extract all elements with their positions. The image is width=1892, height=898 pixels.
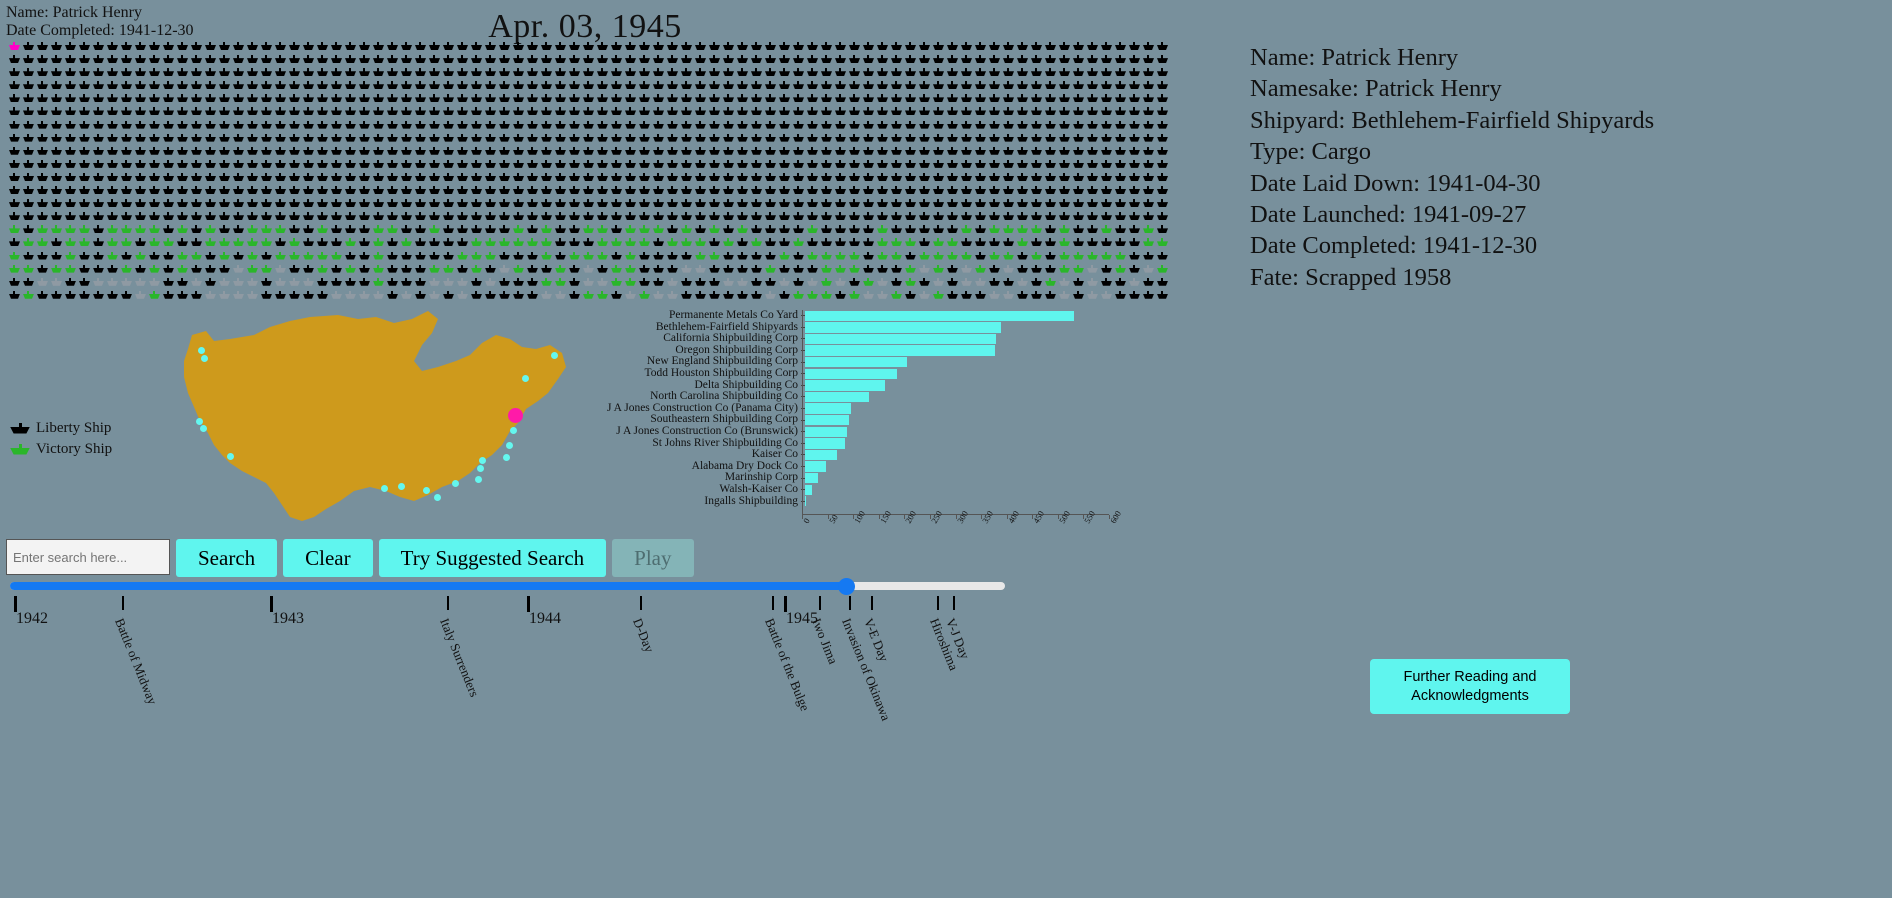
ship-marker[interactable] xyxy=(232,291,246,303)
ship-marker[interactable] xyxy=(778,199,792,211)
ship-marker[interactable] xyxy=(624,160,638,172)
ship-grid[interactable] xyxy=(8,42,1168,304)
ship-marker[interactable] xyxy=(778,68,792,80)
ship-marker[interactable] xyxy=(526,147,540,159)
ship-marker[interactable] xyxy=(372,238,386,250)
ship-marker[interactable] xyxy=(1072,134,1086,146)
ship-marker[interactable] xyxy=(316,265,330,277)
ship-marker[interactable] xyxy=(596,94,610,106)
ship-marker[interactable] xyxy=(1086,55,1100,67)
ship-marker[interactable] xyxy=(456,121,470,133)
ship-marker[interactable] xyxy=(554,238,568,250)
ship-marker[interactable] xyxy=(1002,225,1016,237)
ship-marker[interactable] xyxy=(652,199,666,211)
ship-marker[interactable] xyxy=(1016,278,1030,290)
ship-marker[interactable] xyxy=(414,121,428,133)
ship-marker[interactable] xyxy=(50,147,64,159)
bar[interactable] xyxy=(805,392,869,402)
ship-marker[interactable] xyxy=(22,42,36,54)
ship-marker[interactable] xyxy=(260,160,274,172)
ship-marker[interactable] xyxy=(316,173,330,185)
ship-marker[interactable] xyxy=(428,238,442,250)
ship-marker[interactable] xyxy=(316,252,330,264)
ship-marker[interactable] xyxy=(64,147,78,159)
ship-marker[interactable] xyxy=(526,199,540,211)
ship-marker[interactable] xyxy=(904,265,918,277)
ship-marker[interactable] xyxy=(1128,68,1142,80)
ship-marker[interactable] xyxy=(1156,134,1168,146)
ship-marker[interactable] xyxy=(218,173,232,185)
ship-marker[interactable] xyxy=(288,238,302,250)
ship-marker[interactable] xyxy=(876,212,890,224)
ship-marker[interactable] xyxy=(218,265,232,277)
ship-marker[interactable] xyxy=(904,278,918,290)
ship-marker[interactable] xyxy=(946,147,960,159)
ship-marker[interactable] xyxy=(386,173,400,185)
search-input[interactable] xyxy=(6,539,170,575)
ship-marker[interactable] xyxy=(1086,238,1100,250)
ship-marker[interactable] xyxy=(666,238,680,250)
ship-marker[interactable] xyxy=(330,147,344,159)
ship-marker[interactable] xyxy=(680,199,694,211)
ship-marker[interactable] xyxy=(428,107,442,119)
ship-marker[interactable] xyxy=(932,225,946,237)
ship-marker[interactable] xyxy=(848,252,862,264)
ship-marker[interactable] xyxy=(22,94,36,106)
ship-marker[interactable] xyxy=(190,173,204,185)
ship-marker[interactable] xyxy=(820,147,834,159)
ship-marker[interactable] xyxy=(1100,199,1114,211)
ship-marker[interactable] xyxy=(470,291,484,303)
ship-marker[interactable] xyxy=(778,212,792,224)
ship-marker[interactable] xyxy=(708,212,722,224)
ship-marker[interactable] xyxy=(1100,238,1114,250)
ship-marker[interactable] xyxy=(568,68,582,80)
ship-marker[interactable] xyxy=(694,238,708,250)
ship-marker[interactable] xyxy=(750,265,764,277)
ship-marker[interactable] xyxy=(764,252,778,264)
ship-marker[interactable] xyxy=(316,42,330,54)
ship-marker[interactable] xyxy=(442,199,456,211)
ship-marker[interactable] xyxy=(876,81,890,93)
ship-marker[interactable] xyxy=(470,199,484,211)
ship-marker[interactable] xyxy=(526,265,540,277)
ship-marker[interactable] xyxy=(176,199,190,211)
ship-marker[interactable] xyxy=(862,278,876,290)
ship-marker[interactable] xyxy=(372,212,386,224)
ship-marker[interactable] xyxy=(190,238,204,250)
ship-marker[interactable] xyxy=(946,186,960,198)
ship-marker[interactable] xyxy=(50,42,64,54)
ship-marker[interactable] xyxy=(176,68,190,80)
ship-marker[interactable] xyxy=(204,55,218,67)
ship-marker[interactable] xyxy=(456,55,470,67)
ship-marker[interactable] xyxy=(736,94,750,106)
ship-marker[interactable] xyxy=(1142,107,1156,119)
ship-marker[interactable] xyxy=(736,173,750,185)
ship-marker[interactable] xyxy=(428,134,442,146)
ship-marker[interactable] xyxy=(470,173,484,185)
ship-marker[interactable] xyxy=(918,134,932,146)
ship-marker[interactable] xyxy=(1100,265,1114,277)
ship-marker[interactable] xyxy=(344,160,358,172)
ship-marker[interactable] xyxy=(932,81,946,93)
ship-marker[interactable] xyxy=(834,265,848,277)
ship-marker[interactable] xyxy=(176,121,190,133)
ship-marker[interactable] xyxy=(792,134,806,146)
ship-marker[interactable] xyxy=(162,186,176,198)
ship-marker[interactable] xyxy=(344,265,358,277)
ship-marker[interactable] xyxy=(708,252,722,264)
ship-marker[interactable] xyxy=(414,147,428,159)
slider-thumb[interactable] xyxy=(838,578,855,595)
ship-marker[interactable] xyxy=(246,199,260,211)
ship-marker[interactable] xyxy=(50,212,64,224)
ship-marker[interactable] xyxy=(442,107,456,119)
ship-marker[interactable] xyxy=(344,212,358,224)
ship-marker[interactable] xyxy=(106,252,120,264)
ship-marker[interactable] xyxy=(428,94,442,106)
ship-marker[interactable] xyxy=(1100,212,1114,224)
ship-marker[interactable] xyxy=(1142,81,1156,93)
ship-marker[interactable] xyxy=(876,68,890,80)
ship-marker[interactable] xyxy=(932,238,946,250)
ship-marker[interactable] xyxy=(442,278,456,290)
bar-chart-row[interactable]: Alabama Dry Dock Co xyxy=(600,461,1120,473)
ship-marker[interactable] xyxy=(274,278,288,290)
ship-marker[interactable] xyxy=(932,55,946,67)
ship-marker[interactable] xyxy=(568,147,582,159)
ship-marker[interactable] xyxy=(1030,238,1044,250)
ship-marker[interactable] xyxy=(232,94,246,106)
ship-marker[interactable] xyxy=(750,147,764,159)
ship-marker[interactable] xyxy=(792,81,806,93)
ship-marker[interactable] xyxy=(1142,55,1156,67)
ship-marker[interactable] xyxy=(8,121,22,133)
ship-marker[interactable] xyxy=(1002,68,1016,80)
ship-marker[interactable] xyxy=(638,160,652,172)
ship-marker[interactable] xyxy=(680,121,694,133)
ship-marker[interactable] xyxy=(974,173,988,185)
ship-marker[interactable] xyxy=(904,94,918,106)
ship-marker[interactable] xyxy=(302,278,316,290)
bar[interactable] xyxy=(805,450,837,460)
ship-marker[interactable] xyxy=(1044,199,1058,211)
ship-marker[interactable] xyxy=(22,147,36,159)
ship-marker[interactable] xyxy=(932,173,946,185)
ship-marker[interactable] xyxy=(50,265,64,277)
ship-marker[interactable] xyxy=(862,199,876,211)
ship-marker[interactable] xyxy=(498,212,512,224)
ship-marker[interactable] xyxy=(1002,238,1016,250)
ship-marker[interactable] xyxy=(386,147,400,159)
ship-marker[interactable] xyxy=(694,265,708,277)
ship-marker[interactable] xyxy=(820,252,834,264)
ship-marker[interactable] xyxy=(232,265,246,277)
ship-marker[interactable] xyxy=(22,265,36,277)
ship-marker[interactable] xyxy=(638,278,652,290)
ship-marker[interactable] xyxy=(1058,186,1072,198)
ship-marker[interactable] xyxy=(246,173,260,185)
ship-marker[interactable] xyxy=(316,81,330,93)
ship-marker[interactable] xyxy=(470,225,484,237)
ship-marker[interactable] xyxy=(1114,252,1128,264)
ship-marker[interactable] xyxy=(596,199,610,211)
ship-marker[interactable] xyxy=(386,42,400,54)
ship-marker[interactable] xyxy=(610,107,624,119)
bar-chart-row[interactable]: Walsh-Kaiser Co xyxy=(600,484,1120,496)
ship-marker[interactable] xyxy=(722,55,736,67)
ship-marker[interactable] xyxy=(442,147,456,159)
ship-marker[interactable] xyxy=(1058,252,1072,264)
ship-marker[interactable] xyxy=(1058,212,1072,224)
ship-marker[interactable] xyxy=(78,186,92,198)
ship-marker[interactable] xyxy=(834,81,848,93)
ship-marker[interactable] xyxy=(932,265,946,277)
ship-marker[interactable] xyxy=(778,238,792,250)
ship-marker[interactable] xyxy=(974,238,988,250)
ship-marker[interactable] xyxy=(1044,42,1058,54)
ship-marker[interactable] xyxy=(652,42,666,54)
ship-marker[interactable] xyxy=(1072,68,1086,80)
ship-marker[interactable] xyxy=(974,252,988,264)
ship-marker[interactable] xyxy=(302,94,316,106)
ship-marker[interactable] xyxy=(120,134,134,146)
ship-marker[interactable] xyxy=(960,147,974,159)
ship-marker[interactable] xyxy=(274,147,288,159)
ship-marker[interactable] xyxy=(750,291,764,303)
ship-marker[interactable] xyxy=(806,160,820,172)
ship-marker[interactable] xyxy=(22,134,36,146)
ship-marker[interactable] xyxy=(862,225,876,237)
ship-marker[interactable] xyxy=(946,107,960,119)
ship-marker[interactable] xyxy=(316,291,330,303)
ship-marker[interactable] xyxy=(330,278,344,290)
ship-marker[interactable] xyxy=(218,212,232,224)
ship-marker[interactable] xyxy=(694,55,708,67)
ship-marker[interactable] xyxy=(400,199,414,211)
ship-marker[interactable] xyxy=(652,252,666,264)
ship-marker[interactable] xyxy=(806,265,820,277)
ship-marker[interactable] xyxy=(302,252,316,264)
ship-marker[interactable] xyxy=(22,199,36,211)
ship-marker[interactable] xyxy=(1100,68,1114,80)
ship-marker[interactable] xyxy=(92,291,106,303)
ship-marker[interactable] xyxy=(428,199,442,211)
play-button[interactable]: Play xyxy=(612,539,693,577)
ship-marker[interactable] xyxy=(960,121,974,133)
ship-marker[interactable] xyxy=(218,68,232,80)
ship-marker[interactable] xyxy=(1058,265,1072,277)
ship-marker[interactable] xyxy=(1114,81,1128,93)
ship-marker[interactable] xyxy=(218,107,232,119)
ship-marker[interactable] xyxy=(246,68,260,80)
ship-marker[interactable] xyxy=(806,291,820,303)
ship-marker[interactable] xyxy=(526,238,540,250)
ship-marker[interactable] xyxy=(554,147,568,159)
ship-marker[interactable] xyxy=(120,265,134,277)
ship-marker[interactable] xyxy=(246,121,260,133)
ship-marker[interactable] xyxy=(22,225,36,237)
ship-marker[interactable] xyxy=(1142,134,1156,146)
ship-marker[interactable] xyxy=(624,265,638,277)
ship-marker[interactable] xyxy=(764,147,778,159)
ship-marker[interactable] xyxy=(988,199,1002,211)
ship-marker[interactable] xyxy=(386,94,400,106)
ship-marker[interactable] xyxy=(680,68,694,80)
ship-marker[interactable] xyxy=(344,107,358,119)
ship-marker[interactable] xyxy=(820,121,834,133)
ship-marker[interactable] xyxy=(834,212,848,224)
ship-marker[interactable] xyxy=(456,134,470,146)
ship-marker[interactable] xyxy=(8,238,22,250)
ship-marker[interactable] xyxy=(316,238,330,250)
ship-marker[interactable] xyxy=(1114,107,1128,119)
ship-marker[interactable] xyxy=(36,107,50,119)
ship-marker[interactable] xyxy=(736,291,750,303)
ship-marker[interactable] xyxy=(344,199,358,211)
ship-marker[interactable] xyxy=(1072,199,1086,211)
ship-marker[interactable] xyxy=(134,225,148,237)
ship-marker[interactable] xyxy=(526,173,540,185)
ship-marker[interactable] xyxy=(610,225,624,237)
ship-marker[interactable] xyxy=(624,291,638,303)
ship-marker[interactable] xyxy=(624,134,638,146)
ship-marker[interactable] xyxy=(1156,107,1168,119)
bar[interactable] xyxy=(805,311,1074,321)
ship-marker[interactable] xyxy=(904,68,918,80)
ship-marker[interactable] xyxy=(1058,278,1072,290)
ship-marker[interactable] xyxy=(848,121,862,133)
ship-marker[interactable] xyxy=(400,265,414,277)
ship-marker[interactable] xyxy=(498,186,512,198)
ship-marker[interactable] xyxy=(400,238,414,250)
ship-marker[interactable] xyxy=(820,81,834,93)
ship-marker[interactable] xyxy=(708,94,722,106)
ship-marker[interactable] xyxy=(1030,199,1044,211)
ship-marker[interactable] xyxy=(708,107,722,119)
ship-marker[interactable] xyxy=(988,278,1002,290)
ship-marker[interactable] xyxy=(1044,107,1058,119)
ship-marker[interactable] xyxy=(988,238,1002,250)
ship-marker[interactable] xyxy=(302,225,316,237)
ship-marker[interactable] xyxy=(792,160,806,172)
ship-marker[interactable] xyxy=(862,173,876,185)
ship-marker[interactable] xyxy=(134,55,148,67)
ship-marker[interactable] xyxy=(162,238,176,250)
ship-marker[interactable] xyxy=(204,68,218,80)
ship-marker[interactable] xyxy=(666,94,680,106)
ship-marker[interactable] xyxy=(512,291,526,303)
ship-marker[interactable] xyxy=(470,68,484,80)
map-shipyard-dot[interactable] xyxy=(510,427,517,434)
ship-marker[interactable] xyxy=(1016,212,1030,224)
ship-marker[interactable] xyxy=(428,121,442,133)
ship-marker[interactable] xyxy=(428,81,442,93)
ship-marker[interactable] xyxy=(92,238,106,250)
ship-marker[interactable] xyxy=(834,94,848,106)
ship-marker[interactable] xyxy=(610,160,624,172)
ship-marker[interactable] xyxy=(624,121,638,133)
ship-marker[interactable] xyxy=(176,42,190,54)
ship-marker[interactable] xyxy=(498,160,512,172)
ship-marker[interactable] xyxy=(190,55,204,67)
ship-marker[interactable] xyxy=(918,68,932,80)
ship-marker[interactable] xyxy=(820,265,834,277)
ship-marker[interactable] xyxy=(232,238,246,250)
ship-marker[interactable] xyxy=(918,291,932,303)
ship-marker[interactable] xyxy=(302,107,316,119)
ship-marker[interactable] xyxy=(134,94,148,106)
ship-marker[interactable] xyxy=(204,212,218,224)
ship-marker[interactable] xyxy=(162,42,176,54)
ship-marker[interactable] xyxy=(414,212,428,224)
ship-marker[interactable] xyxy=(582,238,596,250)
ship-marker[interactable] xyxy=(862,147,876,159)
ship-marker[interactable] xyxy=(1114,173,1128,185)
try-suggested-search-button[interactable]: Try Suggested Search xyxy=(379,539,607,577)
ship-marker[interactable] xyxy=(806,134,820,146)
ship-marker[interactable] xyxy=(344,68,358,80)
ship-marker[interactable] xyxy=(78,160,92,172)
ship-marker[interactable] xyxy=(512,173,526,185)
ship-marker[interactable] xyxy=(288,212,302,224)
ship-marker[interactable] xyxy=(540,68,554,80)
ship-marker[interactable] xyxy=(554,278,568,290)
ship-marker[interactable] xyxy=(8,278,22,290)
ship-marker[interactable] xyxy=(218,42,232,54)
ship-marker[interactable] xyxy=(1142,278,1156,290)
bar[interactable] xyxy=(805,369,897,379)
ship-marker[interactable] xyxy=(666,278,680,290)
ship-marker[interactable] xyxy=(652,68,666,80)
ship-marker[interactable] xyxy=(218,278,232,290)
ship-marker[interactable] xyxy=(274,160,288,172)
ship-marker[interactable] xyxy=(750,173,764,185)
ship-marker[interactable] xyxy=(498,199,512,211)
ship-marker[interactable] xyxy=(610,278,624,290)
ship-marker[interactable] xyxy=(1114,121,1128,133)
ship-marker[interactable] xyxy=(1114,291,1128,303)
ship-marker[interactable] xyxy=(218,186,232,198)
ship-marker[interactable] xyxy=(260,225,274,237)
ship-marker[interactable] xyxy=(92,134,106,146)
ship-marker[interactable] xyxy=(1016,55,1030,67)
ship-marker[interactable] xyxy=(498,278,512,290)
ship-marker[interactable] xyxy=(484,278,498,290)
ship-marker[interactable] xyxy=(372,68,386,80)
ship-marker[interactable] xyxy=(120,278,134,290)
ship-marker[interactable] xyxy=(204,265,218,277)
ship-marker[interactable] xyxy=(1100,121,1114,133)
ship-marker[interactable] xyxy=(820,225,834,237)
ship-marker[interactable] xyxy=(890,81,904,93)
ship-marker[interactable] xyxy=(540,278,554,290)
ship-marker[interactable] xyxy=(624,81,638,93)
map-selected-shipyard-dot[interactable] xyxy=(508,408,523,423)
ship-marker[interactable] xyxy=(848,94,862,106)
ship-marker[interactable] xyxy=(386,186,400,198)
ship-marker[interactable] xyxy=(50,107,64,119)
ship-marker[interactable] xyxy=(1002,42,1016,54)
ship-marker[interactable] xyxy=(876,134,890,146)
ship-marker[interactable] xyxy=(1030,147,1044,159)
ship-marker[interactable] xyxy=(722,121,736,133)
ship-marker[interactable] xyxy=(1058,81,1072,93)
ship-marker[interactable] xyxy=(386,252,400,264)
ship-marker[interactable] xyxy=(764,42,778,54)
ship-marker[interactable] xyxy=(64,81,78,93)
